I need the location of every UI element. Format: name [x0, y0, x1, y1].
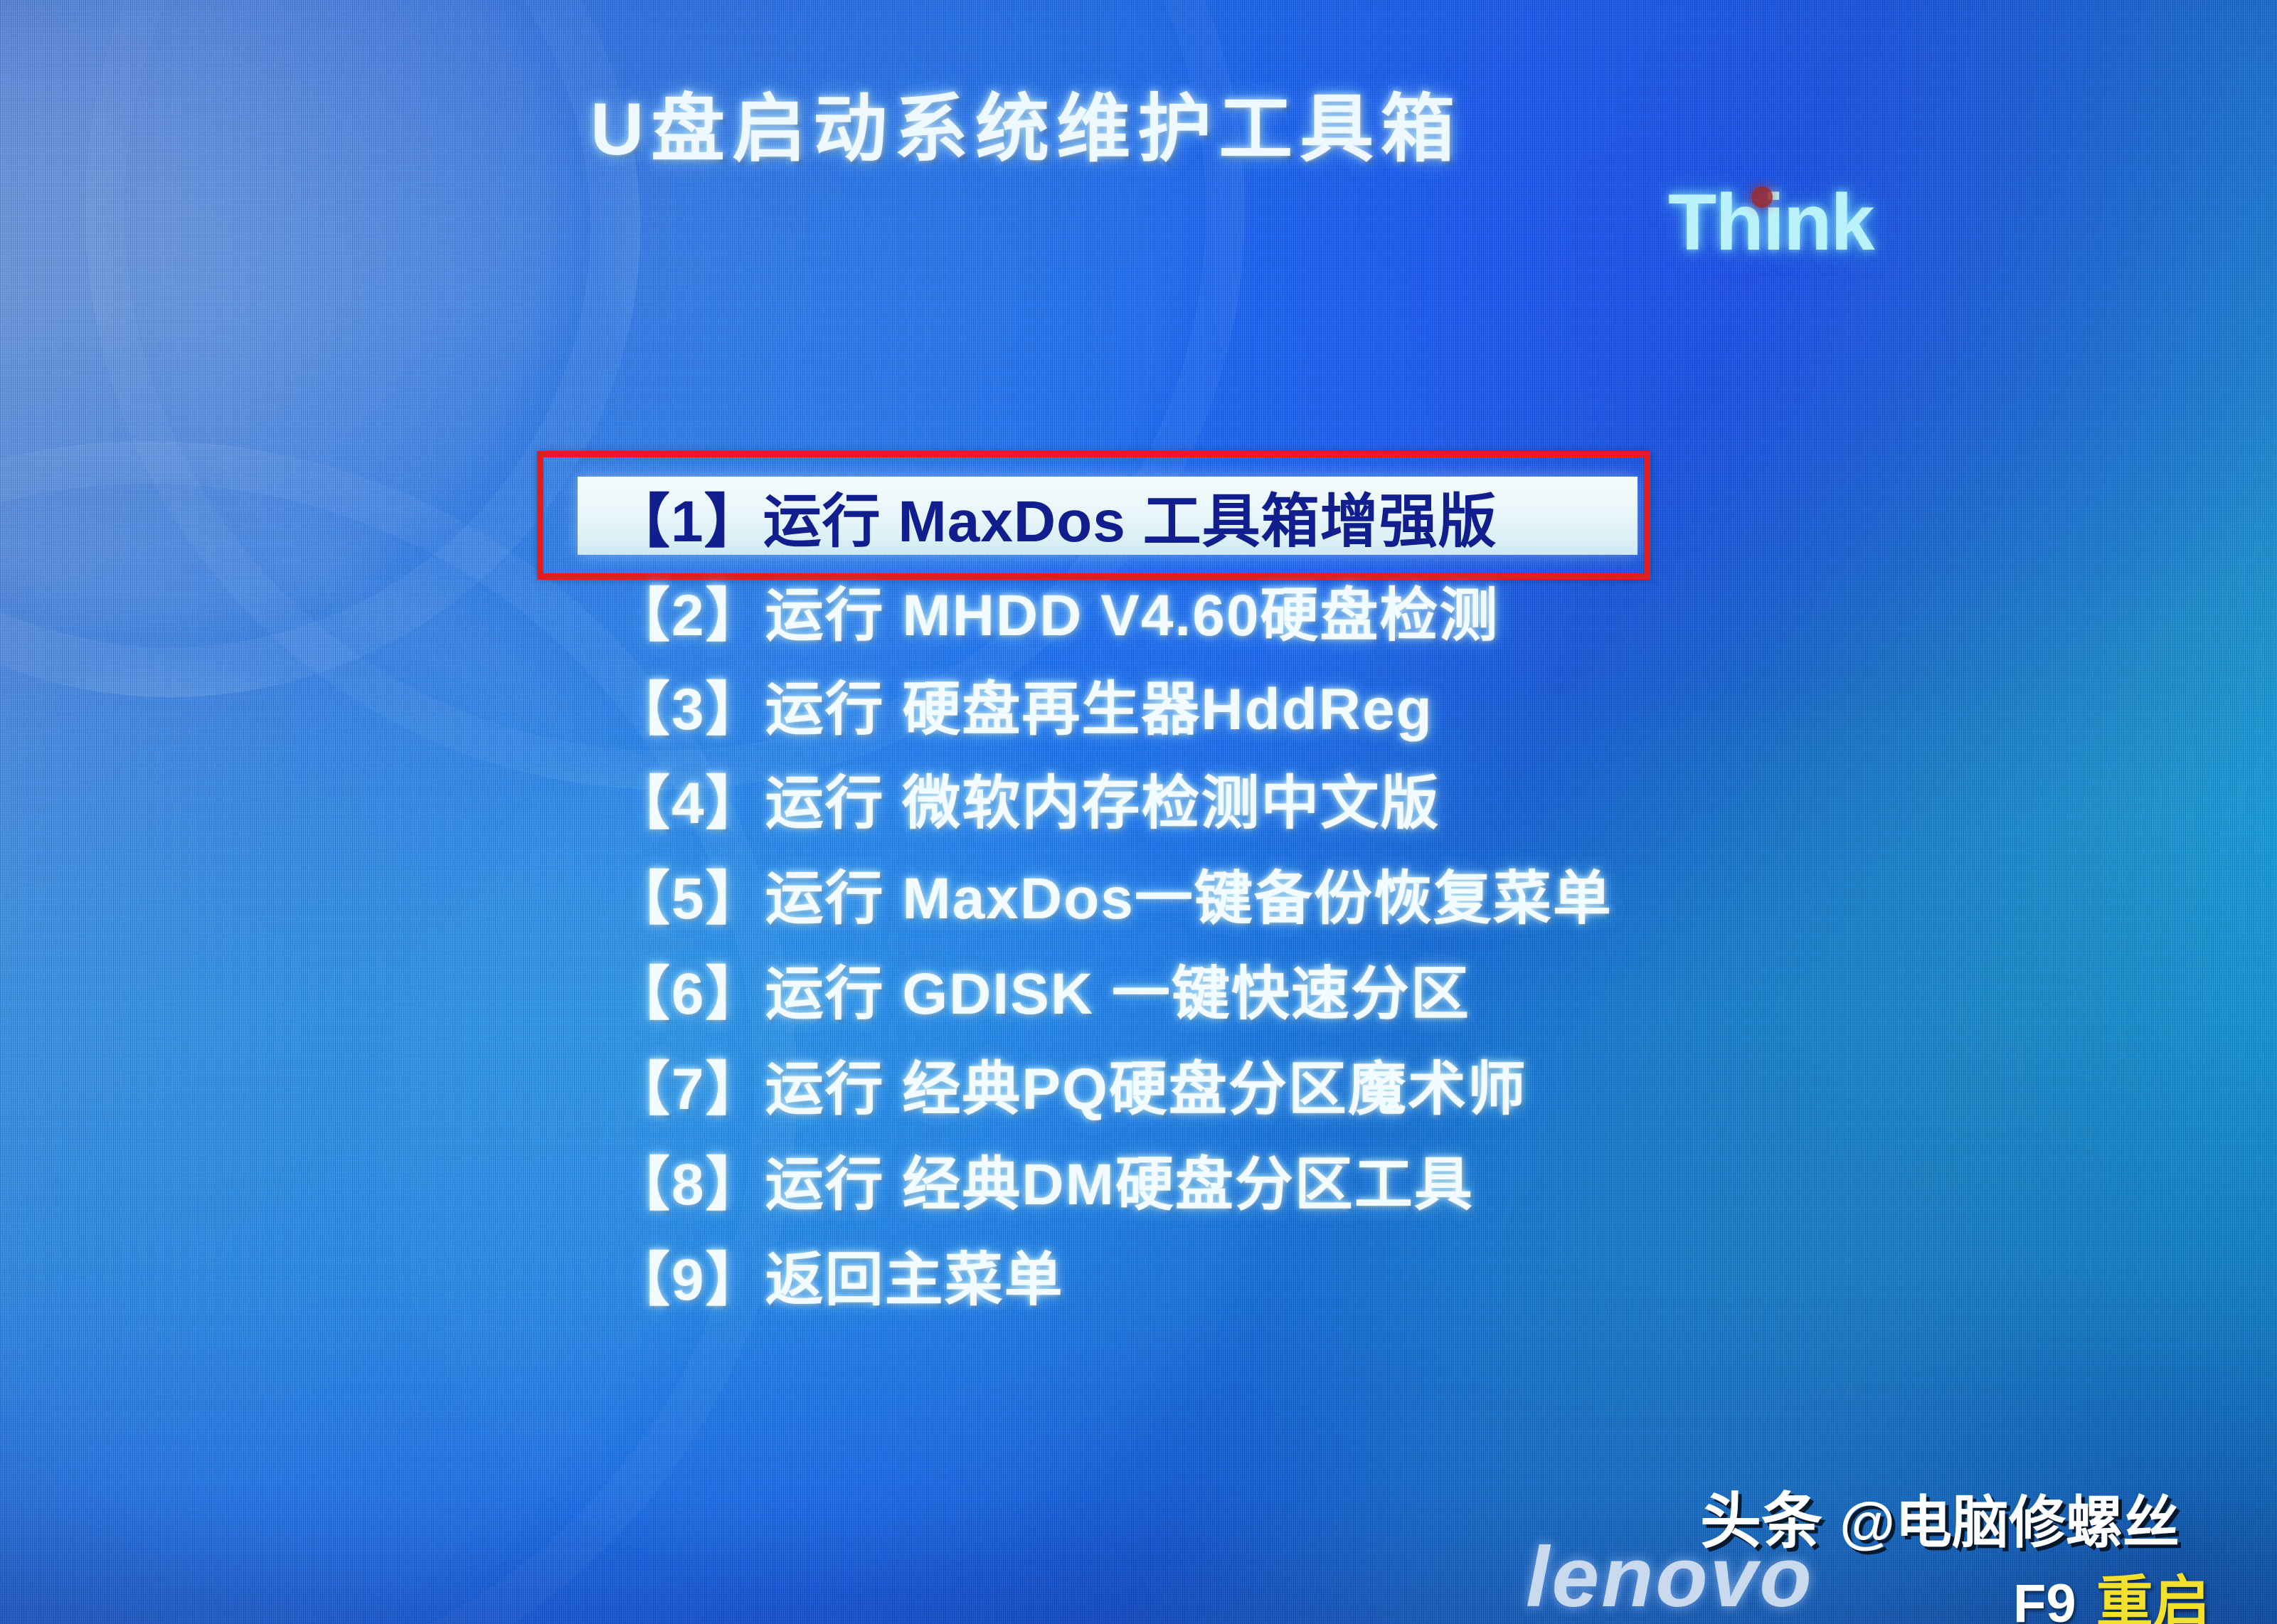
menu-item-7[interactable]: 【7】运行 经典PQ硬盘分区魔术师	[612, 1041, 1527, 1125]
watermark: 头条 @电脑修螺丝	[1700, 1471, 2180, 1560]
function-key-hint: F9 重启	[2013, 1556, 2210, 1624]
menu-item-label: 【4】运行 微软内存检测中文版	[612, 755, 1440, 840]
think-logo-red-dot-icon	[1751, 186, 1773, 208]
menu-item-label: 【6】运行 GDISK 一键快速分区	[612, 946, 1470, 1031]
menu-item-9[interactable]: 【9】返回主菜单	[612, 1232, 1064, 1316]
menu-item-label: 【8】运行 经典DM硬盘分区工具	[612, 1137, 1474, 1221]
menu-item-label: 【5】运行 MaxDos一键备份恢复菜单	[612, 851, 1613, 935]
menu-item-2[interactable]: 【2】运行 MHDD V4.60硬盘检测	[612, 568, 1499, 652]
menu-item-label: 【7】运行 经典PQ硬盘分区魔术师	[612, 1041, 1527, 1126]
menu-item-8[interactable]: 【8】运行 经典DM硬盘分区工具	[612, 1137, 1474, 1221]
page-title: U盘启动系统维护工具箱	[590, 68, 1462, 176]
watermark-brand: 头条	[1700, 1471, 1822, 1560]
watermark-handle: @电脑修螺丝	[1840, 1477, 2180, 1559]
menu-item-4[interactable]: 【4】运行 微软内存检测中文版	[612, 755, 1440, 839]
boot-menu-screen: U盘启动系统维护工具箱 Think 【1】运行 MaxDos 工具箱增强版 【2…	[0, 0, 2277, 1624]
menu-item-label: 【3】运行 硬盘再生器HddReg	[612, 662, 1433, 746]
menu-item-label: 【9】返回主菜单	[612, 1232, 1064, 1317]
menu-item-5[interactable]: 【5】运行 MaxDos一键备份恢复菜单	[612, 851, 1613, 935]
menu-item-label: 【2】运行 MHDD V4.60硬盘检测	[612, 568, 1499, 652]
menu-item-label: 【1】运行 MaxDos 工具箱增强版	[612, 474, 1497, 558]
think-logo: Think	[1668, 176, 1874, 268]
menu-item-6[interactable]: 【6】运行 GDISK 一键快速分区	[612, 946, 1470, 1030]
fn-action-label: 重启	[2096, 1556, 2210, 1624]
menu-item-1[interactable]: 【1】运行 MaxDos 工具箱增强版	[612, 474, 1497, 558]
menu-item-3[interactable]: 【3】运行 硬盘再生器HddReg	[612, 662, 1433, 745]
fn-key-label: F9	[2013, 1573, 2076, 1624]
